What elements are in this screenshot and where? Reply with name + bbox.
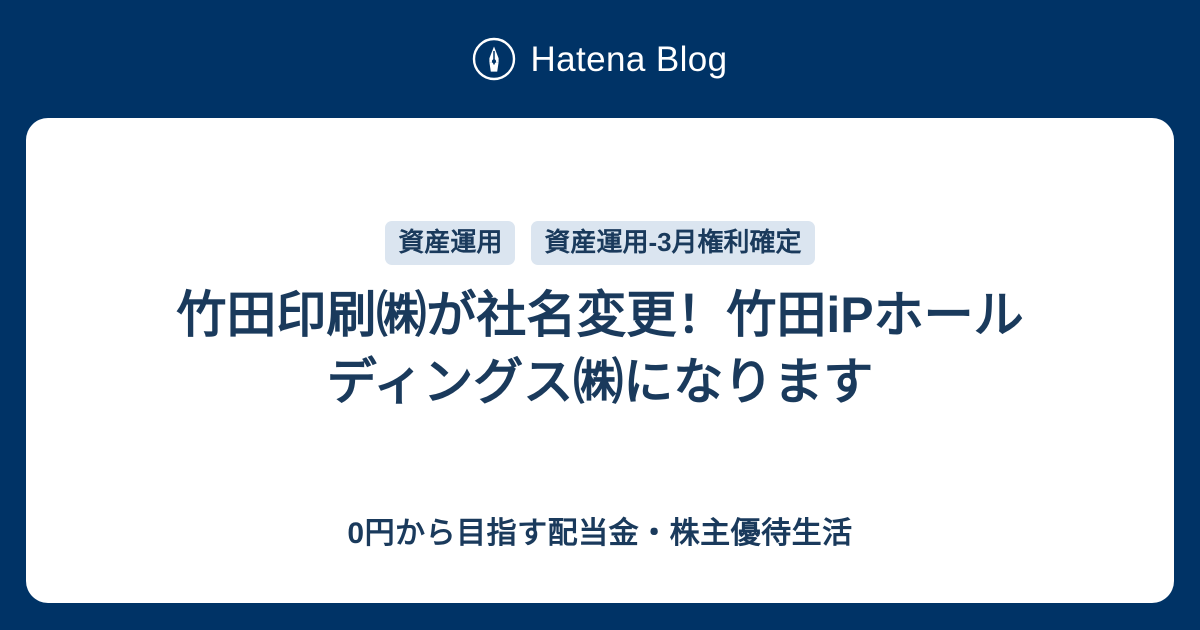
tag-item[interactable]: 資産運用 xyxy=(385,221,515,265)
hatena-blog-brand: Hatena Blog xyxy=(472,37,727,81)
entry-card: 資産運用 資産運用-3月権利確定 竹田印刷㈱が社名変更！竹田iPホールディングス… xyxy=(26,118,1174,603)
entry-title: 竹田印刷㈱が社名変更！竹田iPホールディングス㈱になります xyxy=(160,282,1040,416)
tag-item[interactable]: 資産運用-3月権利確定 xyxy=(531,221,814,265)
tag-list: 資産運用 資産運用-3月権利確定 xyxy=(385,221,814,265)
hatena-pen-nib-icon xyxy=(472,37,516,81)
hatena-blog-brand-bar: Hatena Blog xyxy=(0,0,1200,118)
ogp-card-page: Hatena Blog 資産運用 資産運用-3月権利確定 竹田印刷㈱が社名変更！… xyxy=(0,0,1200,630)
hatena-blog-brand-name: Hatena Blog xyxy=(530,42,727,77)
blog-title: 0円から目指す配当金・株主優待生活 xyxy=(26,516,1174,552)
